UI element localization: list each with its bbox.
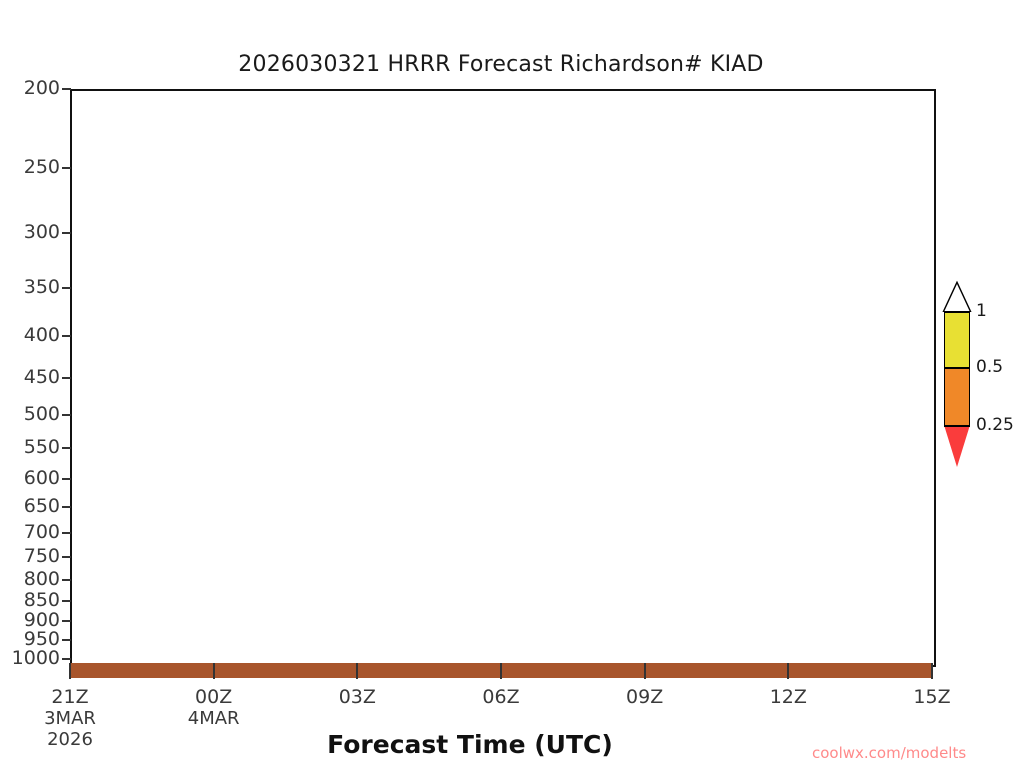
y-tick-mark: [62, 506, 71, 508]
y-tick-mark: [62, 579, 71, 581]
y-tick-label: 550: [0, 436, 60, 458]
y-tick-label: 400: [0, 324, 60, 346]
x-tick-sublabel: 4MAR: [154, 708, 274, 729]
y-tick-mark: [62, 335, 71, 337]
colorbar-segment-yellow: [944, 311, 970, 367]
y-tick-mark: [62, 639, 71, 641]
x-tick-label: 15Z: [872, 686, 992, 708]
x-tick-mark: [787, 663, 789, 679]
x-tick-mark: [356, 663, 358, 679]
colorbar-divider: [944, 311, 970, 313]
y-tick-label: 200: [0, 77, 60, 99]
y-tick-label: 450: [0, 366, 60, 388]
x-tick-label: 00Z: [154, 686, 274, 708]
y-tick-mark: [62, 287, 71, 289]
y-tick-mark: [62, 447, 71, 449]
y-tick-mark: [62, 532, 71, 534]
y-tick-label: 850: [0, 589, 60, 611]
x-tick-sublabel: 3MAR: [10, 708, 130, 729]
colorbar-label: 0.25: [976, 415, 1014, 435]
plot-frame-border: [70, 89, 936, 667]
x-tick-label: 03Z: [297, 686, 417, 708]
chart-title: 2026030321 HRRR Forecast Richardson# KIA…: [0, 52, 1002, 77]
y-tick-label: 700: [0, 521, 60, 543]
y-tick-mark: [62, 377, 71, 379]
y-tick-mark: [62, 414, 71, 416]
chart-page: 2026030321 HRRR Forecast Richardson# KIA…: [0, 0, 1024, 768]
y-tick-mark: [62, 167, 71, 169]
y-tick-label: 800: [0, 568, 60, 590]
x-tick-mark: [69, 663, 71, 679]
y-tick-mark: [62, 478, 71, 480]
x-tick-mark: [931, 663, 933, 679]
credit-watermark: coolwx.com/modelts: [812, 744, 966, 762]
colorbar-segment-orange: [944, 367, 970, 425]
y-tick-mark: [62, 600, 71, 602]
x-tick-mark: [213, 663, 215, 679]
y-tick-mark: [62, 620, 71, 622]
x-tick-label: 12Z: [728, 686, 848, 708]
y-tick-label: 500: [0, 403, 60, 425]
y-tick-mark: [62, 88, 71, 90]
x-tick-mark: [644, 663, 646, 679]
x-tick-mark: [500, 663, 502, 679]
x-tick-label: 06Z: [441, 686, 561, 708]
y-tick-label: 1000: [0, 647, 60, 669]
y-tick-mark: [62, 658, 71, 660]
y-tick-mark: [62, 556, 71, 558]
y-tick-label: 350: [0, 276, 60, 298]
x-tick-label: 09Z: [585, 686, 705, 708]
colorbar-divider: [944, 367, 970, 369]
x-tick-label: 21Z: [10, 686, 130, 708]
colorbar-legend: 10.50.25: [944, 311, 970, 442]
y-tick-label: 250: [0, 156, 60, 178]
colorbar-label: 1: [976, 301, 987, 321]
colorbar-top-arrow: [944, 284, 970, 312]
colorbar-divider: [944, 425, 970, 427]
y-tick-label: 300: [0, 221, 60, 243]
y-tick-label: 750: [0, 545, 60, 567]
y-tick-label: 600: [0, 467, 60, 489]
y-tick-label: 650: [0, 495, 60, 517]
x-tick-sublabel: 2026: [10, 729, 130, 750]
colorbar-label: 0.5: [976, 357, 1003, 377]
x-axis-title: Forecast Time (UTC): [240, 730, 700, 759]
colorbar-bottom-arrow: [944, 425, 970, 467]
y-tick-mark: [62, 232, 71, 234]
